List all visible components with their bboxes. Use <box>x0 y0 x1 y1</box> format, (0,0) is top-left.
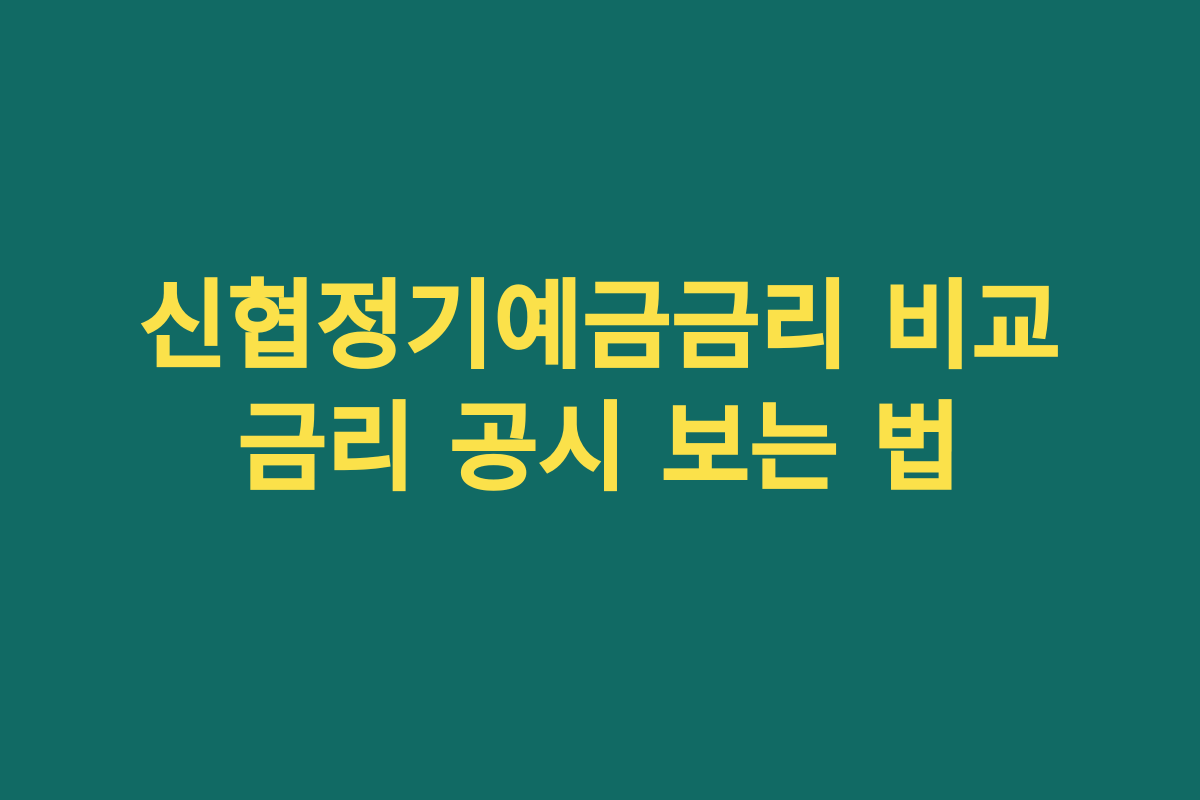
title-line-primary: 신협정기예금금리 비교 <box>139 273 1061 381</box>
title-line-secondary: 금리 공시 보는 법 <box>238 395 961 503</box>
title-text-block: 신협정기예금금리 비교 금리 공시 보는 법 <box>0 273 1200 502</box>
thumbnail-canvas: 신협정기예금금리 비교 금리 공시 보는 법 <box>0 0 1200 800</box>
